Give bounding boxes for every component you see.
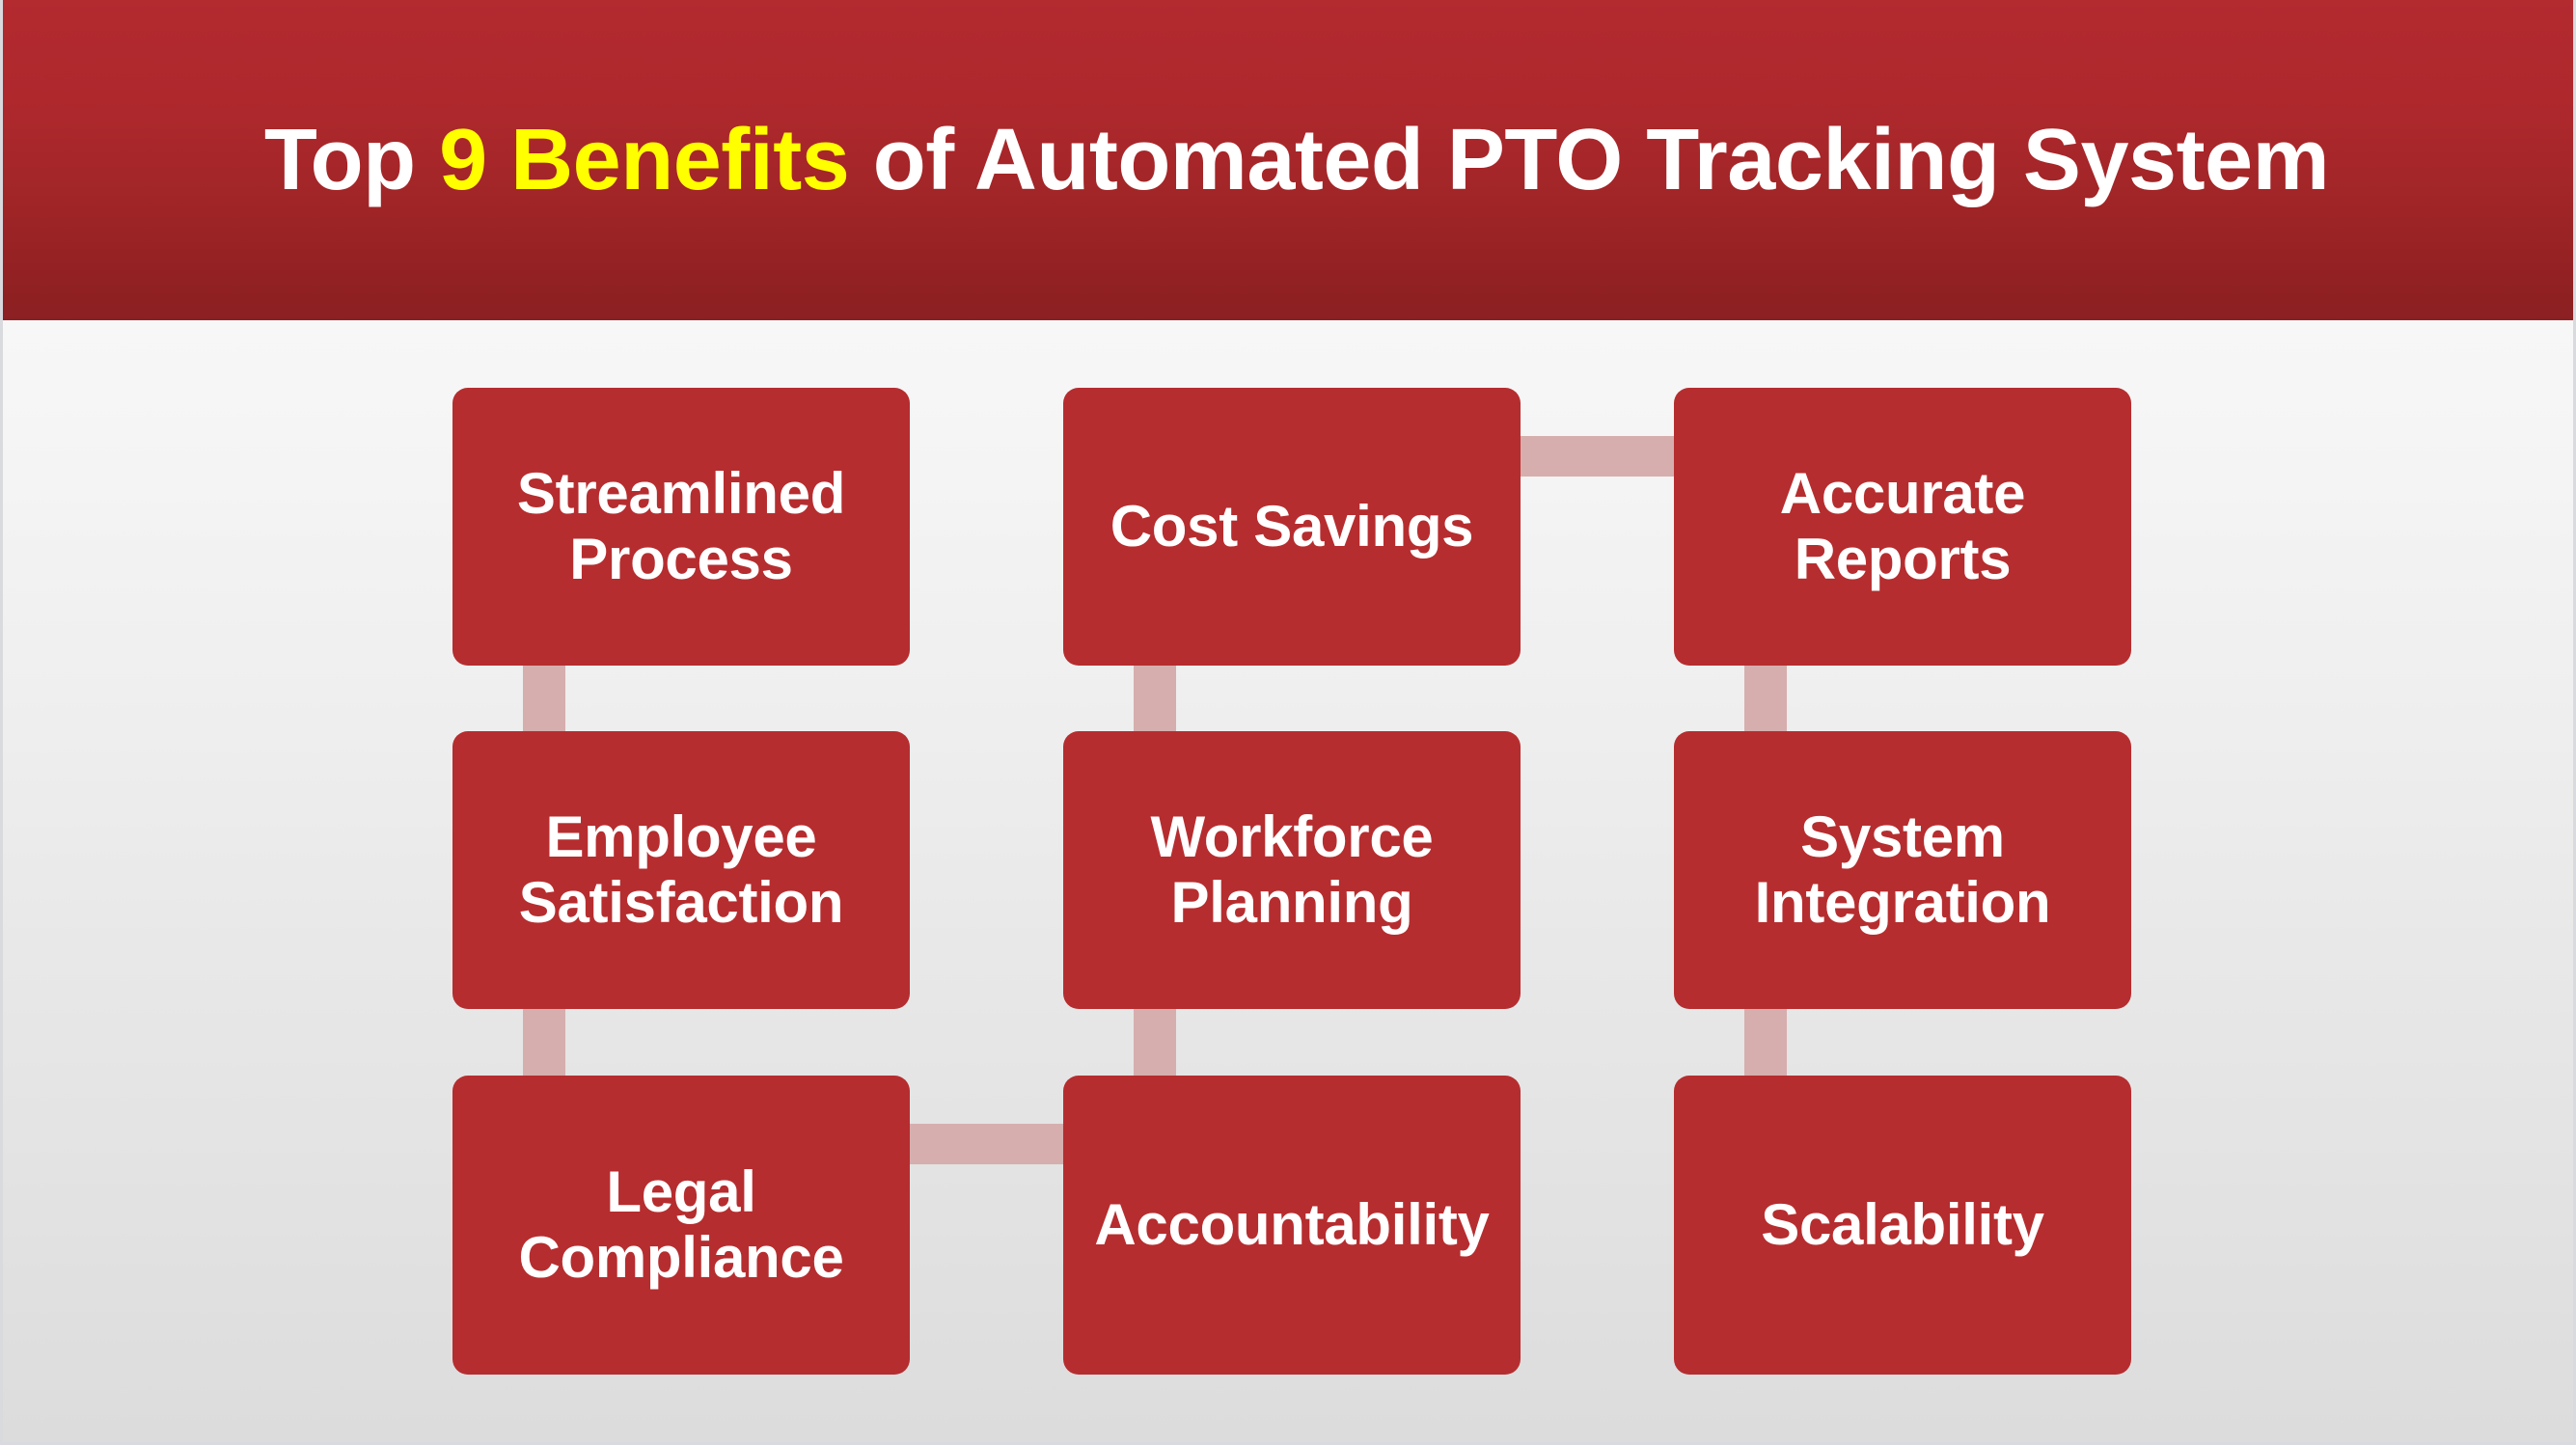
node-label-legal-compliance: Legal Compliance: [518, 1159, 843, 1292]
node-scalability[interactable]: Scalability: [1674, 1076, 2131, 1375]
infographic-slide: Top 9 Benefits of Automated PTO Tracking…: [0, 0, 2576, 1445]
node-streamlined-process[interactable]: Streamlined Process: [452, 388, 910, 666]
node-label-system-integration: System Integration: [1755, 804, 2051, 937]
node-label-accountability: Accountability: [1094, 1192, 1489, 1258]
node-label-accurate-reports: Accurate Reports: [1780, 461, 2025, 593]
title-highlight: 9 Benefits: [439, 112, 849, 208]
node-label-workforce-planning: Workforce Planning: [1151, 804, 1434, 937]
node-label-cost-savings: Cost Savings: [1110, 494, 1474, 559]
benefits-flowchart: Streamlined Process Cost Savings Accurat…: [3, 320, 2576, 1445]
node-cost-savings[interactable]: Cost Savings: [1063, 388, 1521, 666]
node-system-integration[interactable]: System Integration: [1674, 731, 2131, 1009]
page-title: Top 9 Benefits of Automated PTO Tracking…: [247, 115, 2329, 206]
connector-cost-savings-to-accurate-reports: [1520, 436, 1676, 477]
title-suffix: of Automated PTO Tracking System: [849, 112, 2329, 208]
connector-legal-compliance-to-accountability: [908, 1124, 1066, 1164]
node-workforce-planning[interactable]: Workforce Planning: [1063, 731, 1521, 1009]
node-label-streamlined-process: Streamlined Process: [517, 461, 845, 593]
node-legal-compliance[interactable]: Legal Compliance: [452, 1076, 910, 1375]
node-label-scalability: Scalability: [1761, 1192, 2044, 1258]
node-accurate-reports[interactable]: Accurate Reports: [1674, 388, 2131, 666]
node-employee-satisfaction[interactable]: Employee Satisfaction: [452, 731, 910, 1009]
title-prefix: Top: [264, 112, 439, 208]
node-accountability[interactable]: Accountability: [1063, 1076, 1521, 1375]
node-label-employee-satisfaction: Employee Satisfaction: [519, 804, 843, 937]
header-banner: Top 9 Benefits of Automated PTO Tracking…: [3, 0, 2573, 320]
